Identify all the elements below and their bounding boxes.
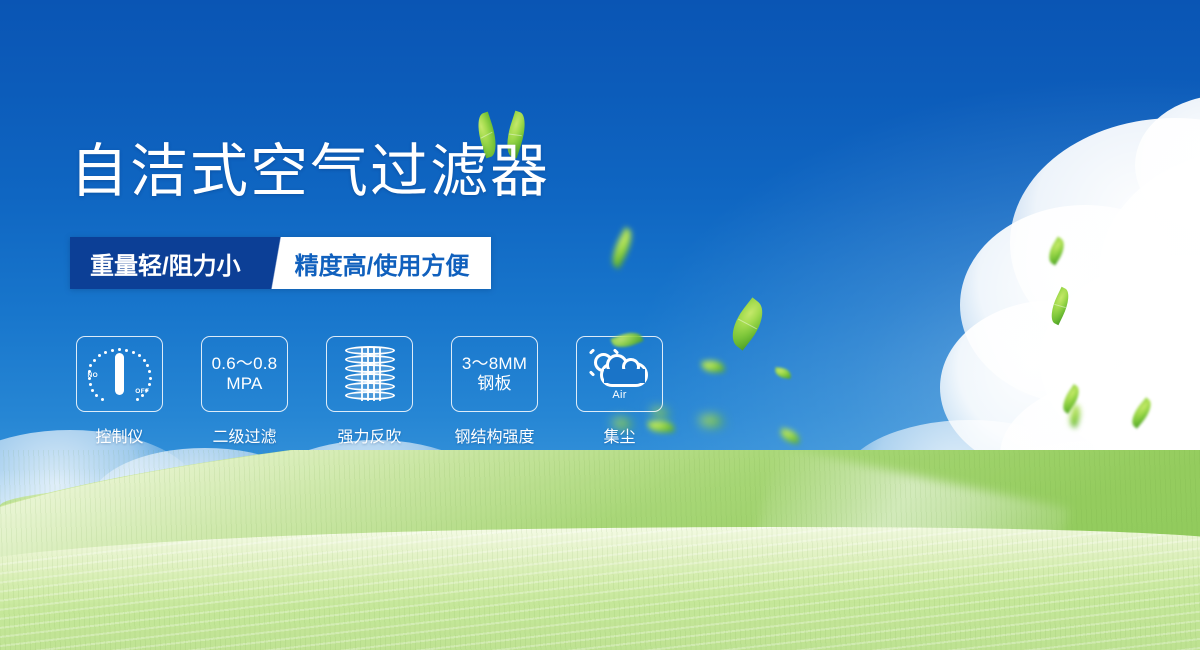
coil-filter-icon	[345, 345, 395, 403]
feature-icon-box: 3～8MM 钢板	[451, 336, 538, 412]
feature-icon-box: NO OFF	[76, 336, 163, 412]
feature-label: 强力反吹	[337, 423, 401, 447]
cloud-sun-air-icon: Air	[589, 349, 651, 399]
feature-item-control[interactable]: NO OFF 控制仪	[76, 336, 163, 447]
feature-item-filtration[interactable]: 0.6～0.8 MPA 二级过滤	[201, 336, 288, 447]
feature-item-blowback[interactable]: 强力反吹	[326, 336, 413, 447]
page-title: 自洁式空气过滤器	[70, 143, 550, 201]
gauge-needle	[115, 353, 124, 395]
feature-label: 集尘	[603, 423, 635, 447]
feature-icon-text-line1: 0.6～0.8	[212, 354, 278, 374]
feature-label: 二级过滤	[212, 423, 276, 447]
gauge-icon: NO OFF	[88, 346, 152, 402]
subtitle-divider	[263, 237, 291, 289]
feature-icon-box	[326, 336, 413, 412]
hero-banner: 自洁式空气过滤器 重量轻/阻力小 精度高/使用方便	[0, 0, 1200, 650]
feature-list: NO OFF 控制仪 0.6～0.8 MPA 二级过滤	[76, 336, 663, 447]
subtitle-right-segment: 精度高/使用方便	[291, 237, 492, 289]
subtitle-left-segment: 重量轻/阻力小	[70, 237, 263, 289]
feature-icon-text-line2: 钢板	[477, 374, 511, 394]
feature-label: 钢结构强度	[454, 423, 534, 447]
air-label: Air	[589, 389, 651, 401]
feature-icon-box: Air	[576, 336, 663, 412]
gauge-label-off: OFF	[135, 388, 149, 395]
feature-icon-box: 0.6～0.8 MPA	[201, 336, 288, 412]
feature-icon-text-line1: 3～8MM	[462, 354, 527, 374]
feature-label: 控制仪	[95, 423, 143, 447]
feature-item-steel[interactable]: 3～8MM 钢板 钢结构强度	[451, 336, 538, 447]
banner-content: 自洁式空气过滤器 重量轻/阻力小 精度高/使用方便	[0, 0, 1200, 650]
subtitle-bar: 重量轻/阻力小 精度高/使用方便	[70, 237, 491, 289]
gauge-label-no: NO	[88, 372, 99, 379]
feature-icon-text-line2: MPA	[226, 374, 262, 394]
feature-item-dust[interactable]: Air 集尘	[576, 336, 663, 447]
